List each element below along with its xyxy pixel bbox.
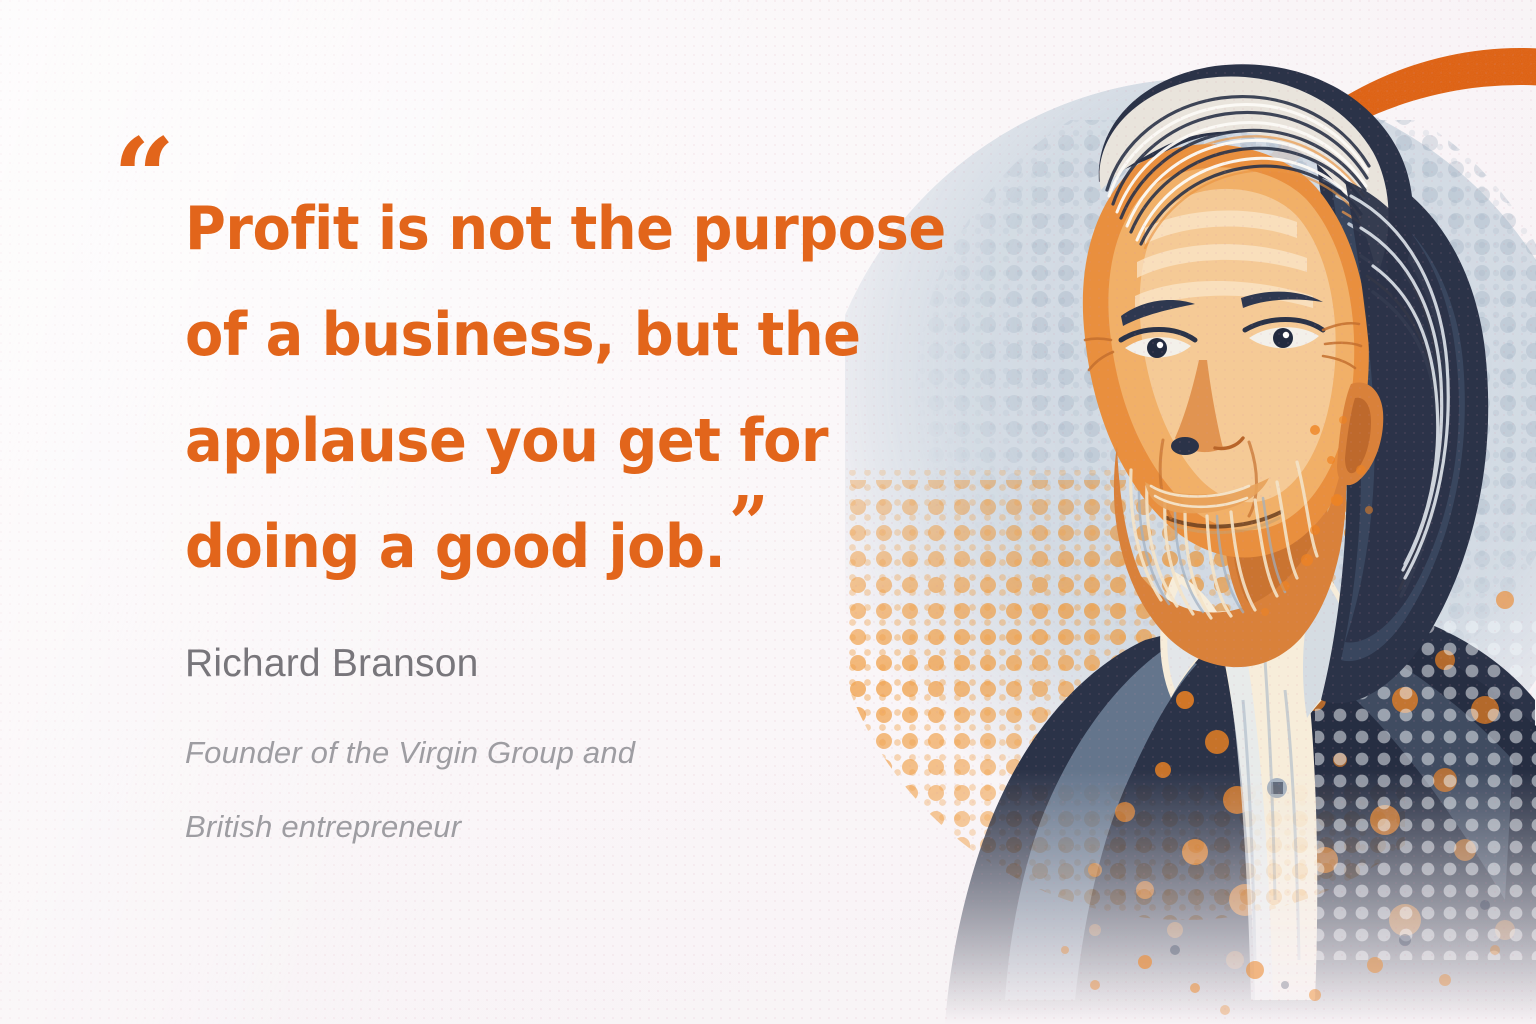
quote-line-1: Profit is not the purpose [185, 176, 836, 282]
quote-text: Profit is not the purpose of a business,… [185, 176, 885, 600]
quote-open-icon: “ [113, 140, 173, 218]
author-role-line-2: British entrepreneur [185, 790, 905, 864]
quote-close-icon: ” [729, 481, 766, 567]
quote-card: “ Profit is not the purpose of a busines… [0, 0, 1536, 1024]
author-role-line-1: Founder of the Virgin Group and [185, 716, 905, 790]
author-name: Richard Branson [185, 642, 905, 686]
quote-line-4: doing a good job.” [185, 494, 836, 600]
quote-line-2: of a business, but the [185, 282, 836, 388]
portrait-illustration-svg [845, 0, 1536, 1024]
quote-line-4-text: doing a good job. [185, 512, 725, 582]
portrait-artwork [845, 0, 1536, 1024]
attribution-block: Richard Branson Founder of the Virgin Gr… [185, 642, 905, 864]
quote-line-3: applause you get for [185, 388, 836, 494]
